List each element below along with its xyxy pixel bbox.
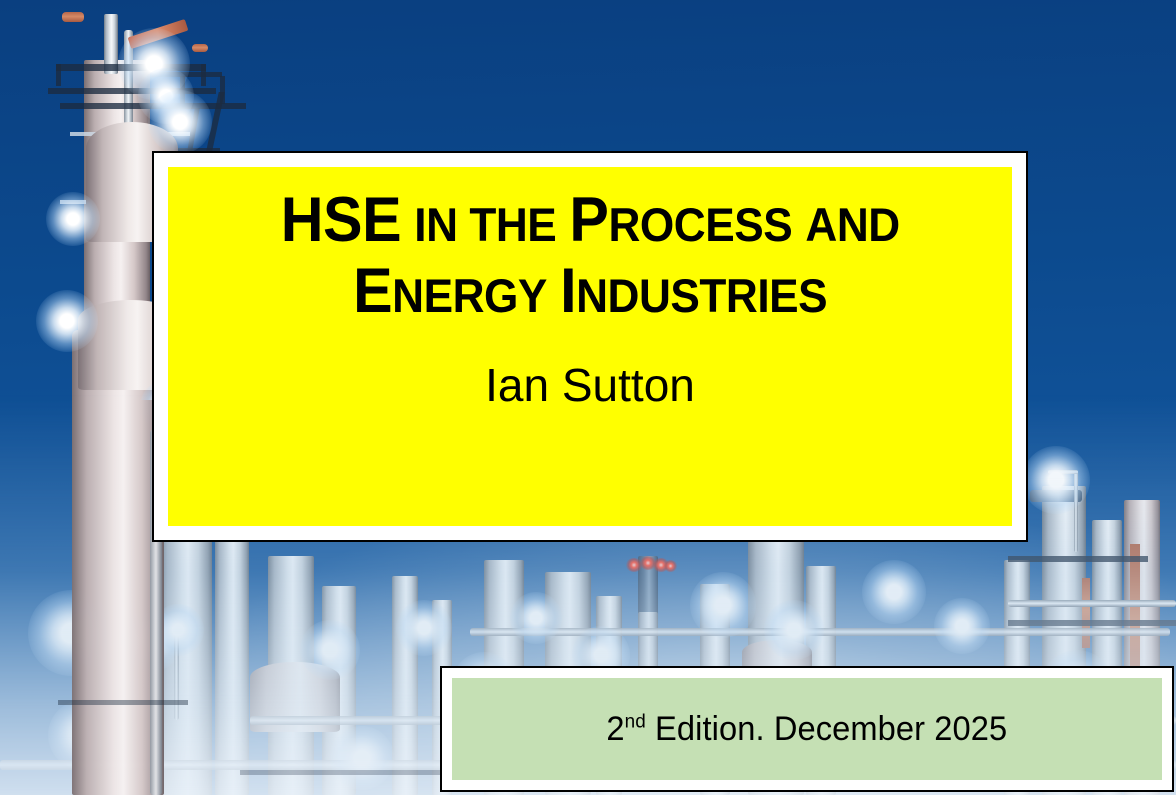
title-seg-i: I bbox=[560, 256, 576, 326]
edition-panel-inner: 2nd Edition. December 2025 bbox=[452, 678, 1162, 780]
edition-rest: Edition. December 2025 bbox=[646, 710, 1007, 748]
flood-light bbox=[36, 290, 98, 352]
title-panel-inner: HSEIN THEPROCESSAND ENERGYINDUSTRIES Ian… bbox=[168, 167, 1012, 526]
book-cover: HSEIN THEPROCESSAND ENERGYINDUSTRIES Ian… bbox=[0, 0, 1176, 795]
title-seg-rocess: ROCESS bbox=[608, 198, 792, 251]
platform-rail bbox=[56, 64, 61, 86]
book-title-line-1: HSEIN THEPROCESSAND bbox=[281, 185, 900, 256]
top-fitting bbox=[62, 12, 84, 22]
edition-number: 2 bbox=[607, 710, 625, 748]
title-seg-e: E bbox=[353, 256, 392, 326]
book-title-line-2: ENERGYINDUSTRIES bbox=[353, 256, 827, 327]
title-panel: HSEIN THEPROCESSAND ENERGYINDUSTRIES Ian… bbox=[152, 151, 1028, 542]
title-seg-p: P bbox=[569, 185, 608, 255]
flood-light bbox=[46, 192, 100, 246]
flood-light bbox=[148, 90, 212, 154]
top-fitting bbox=[192, 44, 208, 52]
title-seg-in-the: IN THE bbox=[414, 198, 556, 251]
edition-panel: 2nd Edition. December 2025 bbox=[440, 666, 1174, 792]
edition-text: 2nd Edition. December 2025 bbox=[607, 710, 1008, 749]
title-seg-hse: HSE bbox=[281, 185, 401, 255]
title-seg-and: AND bbox=[805, 198, 899, 251]
title-seg-ndustries: NDUSTRIES bbox=[576, 269, 827, 322]
edition-ordinal-suffix: nd bbox=[625, 710, 646, 732]
title-seg-nergy: NERGY bbox=[392, 269, 547, 322]
author-name: Ian Sutton bbox=[485, 360, 695, 411]
platform-deck bbox=[58, 700, 188, 705]
